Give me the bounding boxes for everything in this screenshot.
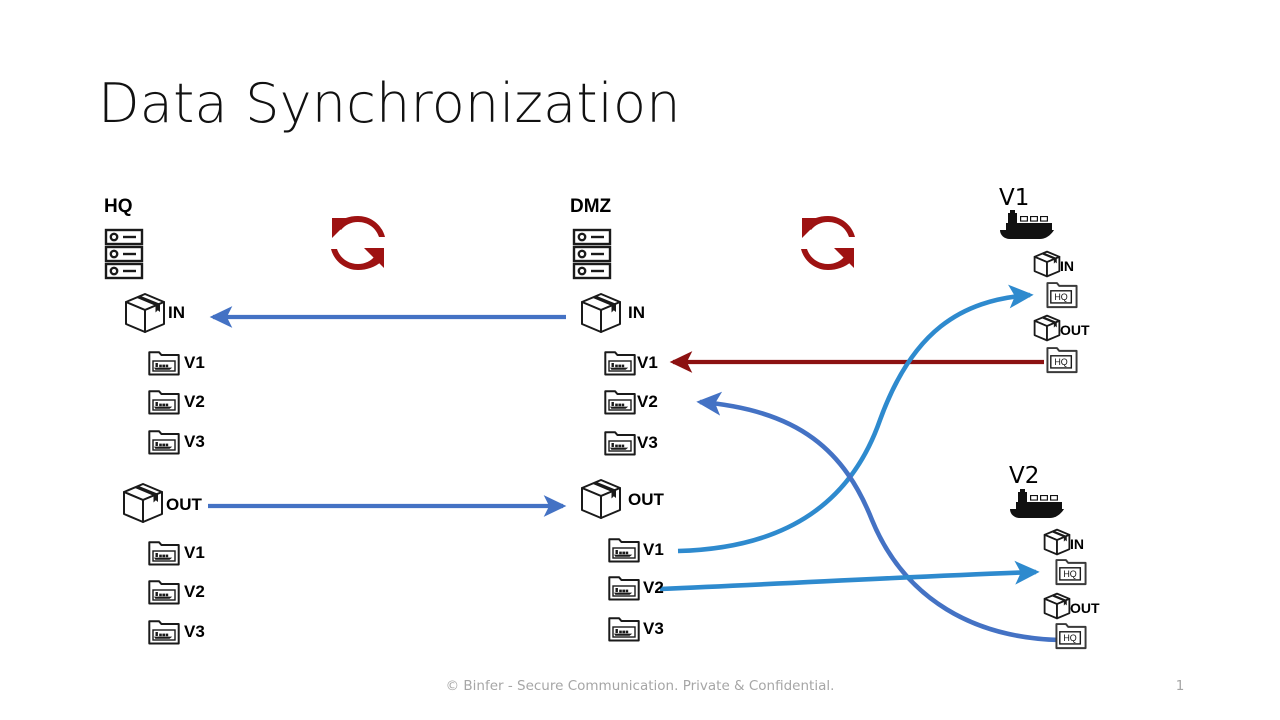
package-box-icon-v2-in bbox=[1042, 527, 1072, 557]
package-box-icon-dmz-in bbox=[578, 290, 624, 336]
package-box-icon-hq-in bbox=[122, 290, 168, 336]
page-title: Data Synchronization bbox=[98, 72, 681, 135]
site-label-v1: V1 bbox=[999, 185, 1029, 211]
footer-copyright: © Binfer - Secure Communication. Private… bbox=[0, 678, 1280, 694]
server-stack-icon-dmz bbox=[572, 228, 612, 280]
folder-hq-icon-v2-in: HQ bbox=[1055, 558, 1087, 586]
node-label-v2-in: IN bbox=[1070, 537, 1084, 551]
folder-hq-icon-v2-out: HQ bbox=[1055, 622, 1087, 650]
folder-hq-icon-v1-in: HQ bbox=[1046, 281, 1078, 309]
server-stack-icon bbox=[104, 228, 144, 280]
node-label-hq-in-v3: V3 bbox=[184, 433, 205, 450]
node-label-v1-out: OUT bbox=[1060, 323, 1090, 337]
svg-text:HQ: HQ bbox=[1054, 357, 1067, 367]
folder-ship-icon-dmz-in-v2 bbox=[604, 389, 636, 415]
node-label-v2-out: OUT bbox=[1070, 601, 1100, 615]
folder-ship-icon-hq-in-v1 bbox=[148, 350, 180, 376]
column-label-hq: HQ bbox=[104, 196, 133, 218]
node-label-dmz-out-v3: V3 bbox=[643, 620, 664, 637]
package-box-icon-v1-in bbox=[1032, 249, 1062, 279]
node-label-dmz-in: IN bbox=[628, 304, 645, 321]
sync-icon-dmz-vendors bbox=[792, 208, 864, 278]
folder-ship-icon-hq-out-v2 bbox=[148, 579, 180, 605]
folder-ship-icon-dmz-out-v3 bbox=[608, 616, 640, 642]
column-label-dmz: DMZ bbox=[570, 196, 611, 218]
flow-dmz-out-v1-to-v1-in-hq bbox=[678, 295, 1030, 551]
node-label-hq-in-v2: V2 bbox=[184, 393, 205, 410]
node-label-hq-out-v1: V1 bbox=[184, 544, 205, 561]
flow-v1-side-to-dmz-in-v2 bbox=[700, 402, 1060, 640]
node-label-hq-in: IN bbox=[168, 304, 185, 321]
node-label-hq-out: OUT bbox=[166, 496, 202, 513]
slide-canvas: Data Synchronization bbox=[0, 0, 1280, 720]
node-label-dmz-out-v1: V1 bbox=[643, 541, 664, 558]
node-label-v1-in: IN bbox=[1060, 259, 1074, 273]
node-label-dmz-out: OUT bbox=[628, 491, 664, 508]
folder-ship-icon-hq-in-v3 bbox=[148, 429, 180, 455]
cargo-ship-icon-v2 bbox=[1007, 489, 1069, 521]
page-number: 1 bbox=[1150, 678, 1210, 694]
svg-text:HQ: HQ bbox=[1063, 569, 1076, 579]
folder-ship-icon-hq-out-v1 bbox=[148, 540, 180, 566]
package-box-icon-hq-out bbox=[120, 480, 166, 526]
package-box-icon-v2-out bbox=[1042, 591, 1072, 621]
node-label-dmz-in-v2: V2 bbox=[637, 393, 658, 410]
site-label-v2: V2 bbox=[1009, 463, 1039, 489]
node-label-dmz-out-v2: V2 bbox=[643, 579, 664, 596]
node-label-dmz-in-v1: V1 bbox=[637, 354, 658, 371]
sync-icon-hq-dmz bbox=[322, 208, 394, 278]
flow-dmz-out-v2-to-v2-in-hq bbox=[660, 572, 1036, 589]
node-label-hq-in-v1: V1 bbox=[184, 354, 205, 371]
folder-ship-icon-hq-out-v3 bbox=[148, 619, 180, 645]
package-box-icon-v1-out bbox=[1032, 313, 1062, 343]
cargo-ship-icon-v1 bbox=[997, 210, 1059, 242]
folder-ship-icon-dmz-out-v2 bbox=[608, 575, 640, 601]
folder-ship-icon-dmz-out-v1 bbox=[608, 537, 640, 563]
package-box-icon-dmz-out bbox=[578, 476, 624, 522]
svg-text:HQ: HQ bbox=[1054, 292, 1067, 302]
folder-ship-icon-hq-in-v2 bbox=[148, 389, 180, 415]
folder-ship-icon-dmz-in-v1 bbox=[604, 350, 636, 376]
node-label-hq-out-v3: V3 bbox=[184, 623, 205, 640]
folder-hq-icon-v1-out: HQ bbox=[1046, 346, 1078, 374]
svg-text:HQ: HQ bbox=[1063, 633, 1076, 643]
node-label-dmz-in-v3: V3 bbox=[637, 434, 658, 451]
node-label-hq-out-v2: V2 bbox=[184, 583, 205, 600]
folder-ship-icon-dmz-in-v3 bbox=[604, 430, 636, 456]
